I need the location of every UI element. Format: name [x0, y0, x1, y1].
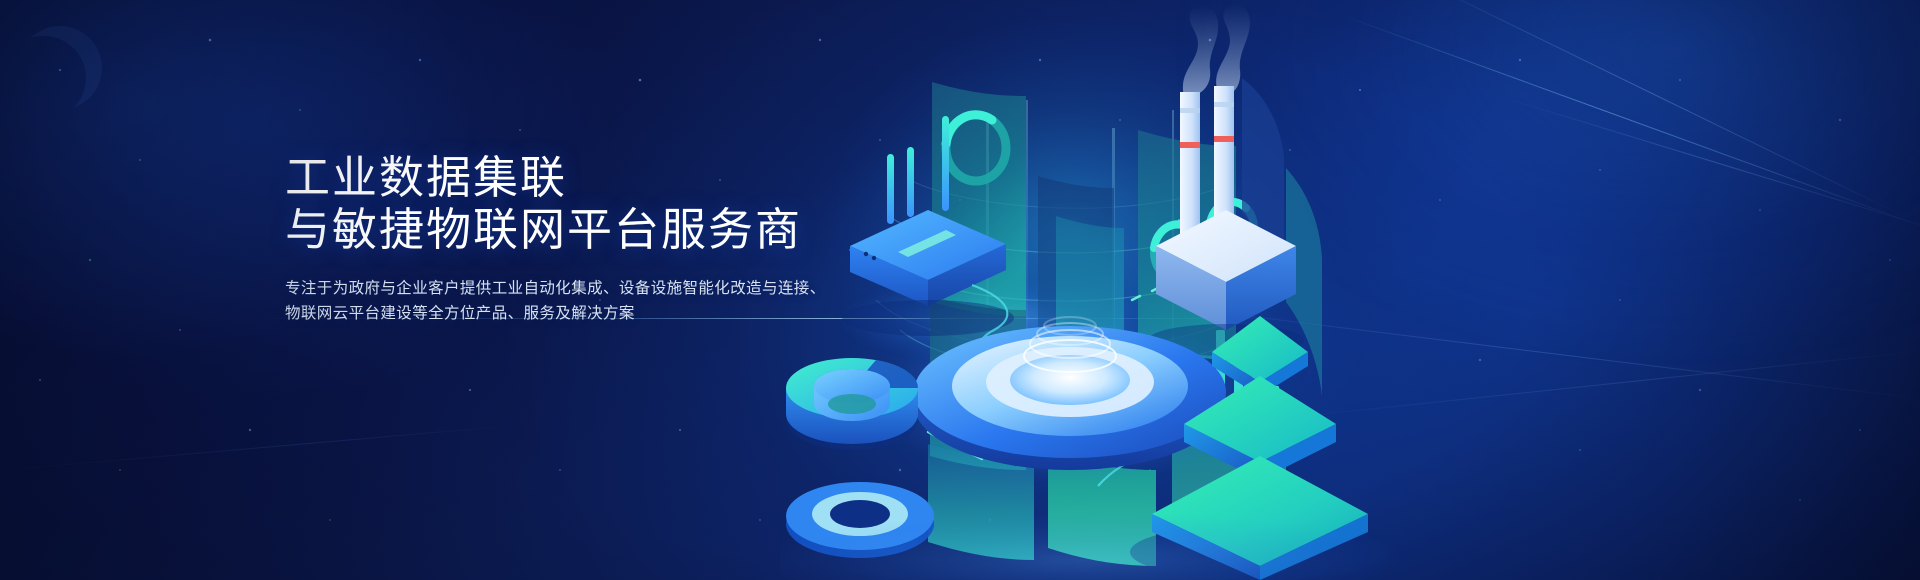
subtitle-line-2: 物联网云平台建设等全方位产品、服务及解决方案 — [285, 301, 905, 326]
smokestack-band — [1180, 142, 1200, 148]
hero-banner: 工业数据集联 与敏捷物联网平台服务商 专注于为政府与企业客户提供工业自动化集成、… — [0, 0, 1920, 580]
hero-subtitle: 专注于为政府与企业客户提供工业自动化集成、设备设施智能化改造与连接、 物联网云平… — [285, 276, 905, 326]
subtitle-line-1: 专注于为政府与企业客户提供工业自动化集成、设备设施智能化改造与连接、 — [285, 276, 905, 301]
iot-isometric-illustration — [780, 0, 1920, 580]
smokestack-band — [1214, 102, 1234, 107]
smokestack-band — [1180, 108, 1200, 113]
pie-inner-hole — [828, 394, 876, 414]
pie-cylinder-chart — [786, 358, 918, 450]
hero-text-block: 工业数据集联 与敏捷物联网平台服务商 专注于为政府与企业客户提供工业自动化集成、… — [285, 152, 905, 326]
page-title: 工业数据集联 与敏捷物联网平台服务商 — [285, 152, 905, 256]
smokestack — [1180, 92, 1200, 248]
smokestack-band — [1214, 136, 1234, 142]
headline-line-1: 工业数据集联 — [285, 152, 567, 203]
headline-line-2: 与敏捷物联网平台服务商 — [285, 204, 905, 256]
central-hub-disc — [870, 312, 1270, 484]
